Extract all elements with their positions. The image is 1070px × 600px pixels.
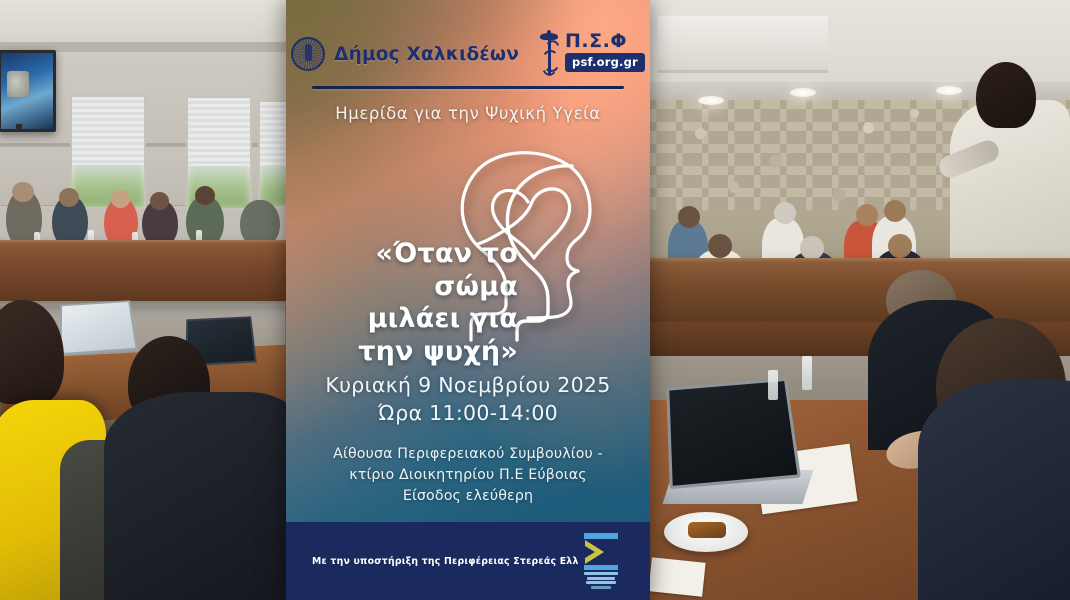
panelist-head [774,202,796,224]
photo-left [0,0,286,600]
pastry [688,522,726,538]
person-head [59,188,79,207]
support-text: Με την υποστήριξη της Περιφέρειας Στερεά… [312,556,604,567]
header-divider [312,86,624,89]
standing-speaker-head [976,62,1036,128]
psf-website-badge[interactable]: psf.org.gr [565,53,645,72]
ceiling-beam [658,16,828,73]
panelist-head [884,200,906,222]
foreground-person-dark-clothing [104,392,286,600]
municipality-name: Δήμος Χαλκιδέων [334,44,519,65]
venue-line: Είσοδος ελεύθερη [286,486,650,507]
person-head [150,192,169,210]
panelist-head [678,206,700,228]
poster-logo-row: Δήμος Χαλκιδέων Π.Σ.Φ psf.org.gr [286,28,650,80]
water-bottle [768,370,778,400]
poster-composite: Δήμος Χαλκιδέων Π.Σ.Φ psf.org.gr [0,0,1070,600]
psf-logo[interactable]: Π.Σ.Φ psf.org.gr [539,32,645,76]
paper-sheet [650,557,706,596]
left-ceiling [0,0,286,46]
event-poster: Δήμος Χαλκιδέων Π.Σ.Φ psf.org.gr [286,0,650,600]
event-time: Ώρα 11:00-14:00 [286,400,650,428]
water-bottle [802,356,812,390]
person-head [888,234,912,258]
event-date: Κυριακή 9 Νοεμβρίου 2025 [286,372,650,400]
ceiling-light [790,88,816,97]
poster-subtitle: Ημερίδα για την Ψυχική Υγεία [286,104,650,123]
window-blind [260,102,286,166]
tv-mount [16,124,22,132]
ceiling-light [936,86,962,95]
asclepius-rod-icon [539,32,559,76]
person-head [12,182,34,202]
laptop-open [59,300,137,355]
ceiling-light [698,96,724,105]
person-head [708,234,732,258]
person-head [800,236,824,260]
psf-abbreviation: Π.Σ.Φ [565,32,627,51]
region-sterea-ellada-logo [578,531,624,589]
poster-footer: Με την υποστήριξη της Περιφέρειας Στερεά… [286,522,650,600]
municipality-logo[interactable]: Δήμος Χαλκιδέων [291,37,519,71]
logo-arrow [581,539,621,565]
laptop-screen [666,378,801,489]
logo-bar-bottom [584,565,618,570]
title-line: «Όταν το [304,238,518,271]
title-line: μιλάει για [304,303,518,336]
municipal-seal-icon [291,37,325,71]
left-window-1 [70,95,146,209]
left-window-3 [258,100,286,208]
person-head [111,190,130,208]
foreground-person-navy-top [918,380,1070,600]
venue-line: κτίριο Διοικητηρίου Π.Ε Εύβοιας [286,465,650,486]
wall-mounted-tv [0,50,56,132]
panelist-head [856,204,878,226]
person-head [195,186,215,205]
window-blind [72,97,144,165]
logo-wordmark [583,572,619,589]
window-blind [188,98,250,166]
poster-main-title: «Όταν το σώμα μιλάει για την ψυχή» [304,238,518,369]
event-datetime: Κυριακή 9 Νοεμβρίου 2025 Ώρα 11:00-14:00 [286,372,650,427]
venue-line: Αίθουσα Περιφερειακού Συμβουλίου - [286,444,650,465]
right-conference-table [650,262,1070,324]
left-conference-table [0,243,286,301]
title-line: την ψυχή» [304,336,518,369]
title-line: σώμα [304,271,518,304]
event-venue: Αίθουσα Περιφερειακού Συμβουλίου - κτίρι… [286,444,650,507]
photo-right [650,0,1070,600]
